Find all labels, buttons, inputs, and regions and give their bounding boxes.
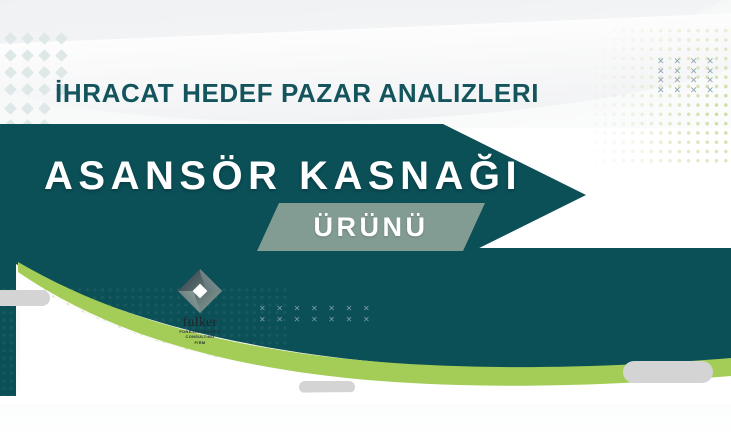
diamond-dot bbox=[4, 102, 17, 115]
diamond-dot bbox=[4, 49, 17, 62]
diamond-dot bbox=[4, 83, 17, 96]
decor-pill-right bbox=[623, 361, 713, 383]
diamond-dot bbox=[38, 102, 51, 115]
fulker-logo: fulker FOREIGN TRADE & CONSULTING FIRM bbox=[167, 268, 233, 336]
diamond-dot bbox=[38, 83, 51, 96]
diamond-dot bbox=[38, 32, 51, 45]
dot-pattern-top-right bbox=[591, 26, 731, 166]
page-title: ASANSÖR KASNAĞI bbox=[44, 150, 544, 202]
diamond-dot bbox=[21, 49, 34, 62]
page-supertitle: İHRACAT HEDEF PAZAR ANALIZLERI bbox=[55, 78, 539, 109]
diamond-dot bbox=[4, 32, 17, 45]
decor-pill-left bbox=[0, 290, 50, 306]
logo-wordmark: fulker bbox=[167, 316, 233, 329]
x-marks-boat: ✕ ✕ ✕ ✕ ✕ ✕ ✕ ✕ ✕ ✕ ✕ ✕ ✕ ✕ bbox=[259, 303, 337, 325]
diamond-dot bbox=[21, 102, 34, 115]
export-market-analysis-banner: ✕ ✕ ✕ ✕ ✕ ✕ ✕ ✕ ✕ ✕ ✕ ✕ ✕ ✕ ✕ ✕ İHRACAT … bbox=[0, 0, 731, 436]
diamond-dot bbox=[4, 66, 17, 79]
diamond-dot bbox=[55, 66, 68, 79]
diamond-dot bbox=[21, 32, 34, 45]
x-marks-top-right: ✕ ✕ ✕ ✕ ✕ ✕ ✕ ✕ ✕ ✕ ✕ ✕ ✕ ✕ ✕ ✕ bbox=[657, 57, 705, 95]
diamond-dot bbox=[21, 66, 34, 79]
diamond-dot bbox=[55, 32, 68, 45]
logo-tagline-2: FIRM bbox=[167, 340, 233, 345]
diamond-dot bbox=[55, 49, 68, 62]
diamond-dot bbox=[38, 49, 51, 62]
logo-diamond-icon bbox=[177, 268, 223, 314]
bottom-background-wash bbox=[0, 404, 731, 436]
diamond-dot bbox=[38, 66, 51, 79]
logo-tagline-1: FOREIGN TRADE & CONSULTING bbox=[167, 329, 233, 340]
product-badge-label: ÜRÜNÜ bbox=[257, 203, 485, 251]
diamond-dot bbox=[21, 83, 34, 96]
